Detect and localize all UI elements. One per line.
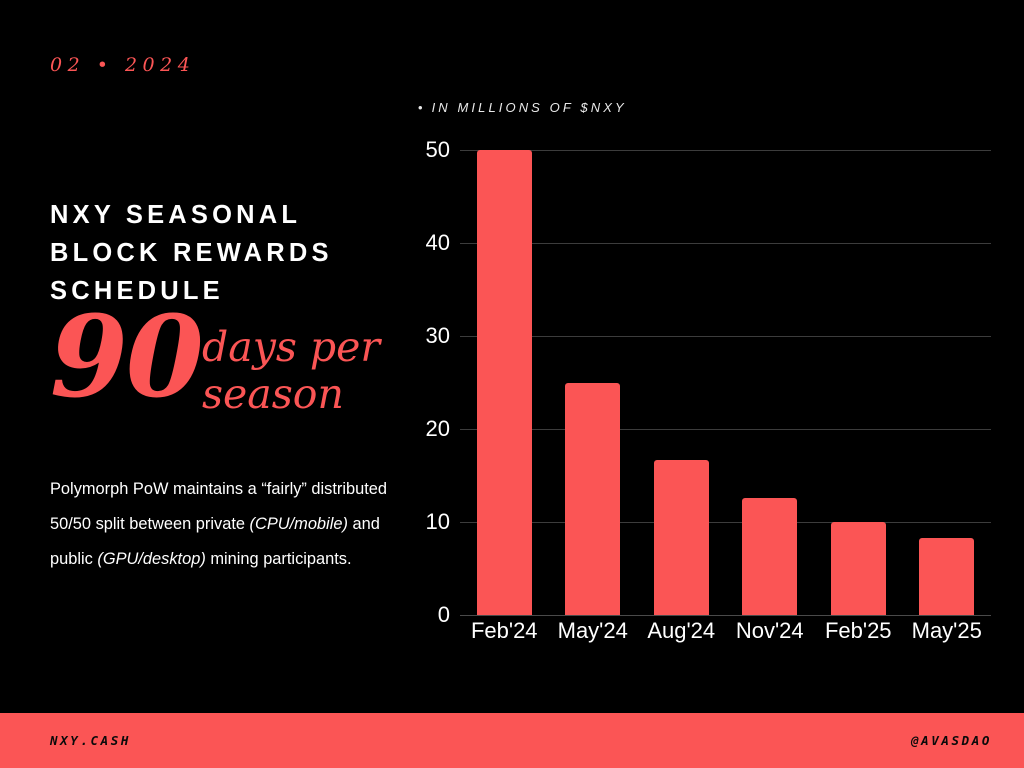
bar-aug24[interactable] bbox=[654, 460, 709, 615]
body-text-italic-2: (GPU/desktop) bbox=[97, 550, 205, 568]
x-axis-tick-label: Feb'24 bbox=[459, 618, 549, 644]
poster-canvas: 02 • 2024 NXY SEASONAL BLOCK REWARDS SCH… bbox=[0, 0, 1024, 768]
left-content-panel: 02 • 2024 NXY SEASONAL BLOCK REWARDS SCH… bbox=[50, 0, 400, 710]
y-axis-tick-label: 20 bbox=[410, 416, 450, 442]
y-axis-tick-label: 50 bbox=[410, 137, 450, 163]
y-axis-tick-label: 30 bbox=[410, 323, 450, 349]
chart-subtitle-text: IN MILLIONS OF $NXY bbox=[432, 100, 627, 115]
bar-nov24[interactable] bbox=[742, 498, 797, 615]
x-axis-tick-label: Aug'24 bbox=[636, 618, 726, 644]
issue-date-label: 02 • 2024 bbox=[50, 54, 195, 76]
key-stat-block: 90 days per season bbox=[50, 312, 400, 422]
x-axis-tick-label: May'25 bbox=[902, 618, 992, 644]
stat-unit-line-2: season bbox=[202, 371, 402, 418]
y-axis-tick-label: 0 bbox=[410, 602, 450, 628]
body-text-italic-1: (CPU/mobile) bbox=[250, 515, 348, 533]
x-axis-labels: Feb'24May'24Aug'24Nov'24Feb'25May'25 bbox=[460, 618, 1000, 652]
gridline bbox=[460, 615, 991, 616]
stat-unit: days per season bbox=[202, 324, 402, 418]
footer-handle-label[interactable]: @AVASDAO bbox=[911, 733, 992, 748]
bullet-icon: • bbox=[418, 100, 423, 115]
bar-series bbox=[460, 150, 991, 615]
stat-unit-line-1: days per bbox=[202, 324, 402, 371]
x-axis-tick-label: Nov'24 bbox=[725, 618, 815, 644]
footer-site-label[interactable]: NXY.CASH bbox=[50, 733, 131, 748]
body-paragraph: Polymorph PoW maintains a “fairly” distr… bbox=[50, 472, 402, 577]
chart-subtitle: •IN MILLIONS OF $NXY bbox=[418, 100, 627, 115]
y-axis-tick-label: 10 bbox=[410, 509, 450, 535]
bar-may25[interactable] bbox=[919, 538, 974, 615]
bar-feb25[interactable] bbox=[831, 522, 886, 615]
bar-chart: •IN MILLIONS OF $NXY 01020304050 Feb'24M… bbox=[400, 85, 1010, 655]
body-text-part-3: mining participants. bbox=[206, 550, 352, 568]
plot-region: 01020304050 Feb'24May'24Aug'24Nov'24Feb'… bbox=[410, 150, 991, 615]
bar-may24[interactable] bbox=[565, 383, 620, 616]
x-axis-tick-label: Feb'25 bbox=[813, 618, 903, 644]
stat-number: 90 bbox=[50, 302, 202, 414]
y-axis-tick-label: 40 bbox=[410, 230, 450, 256]
bar-feb24[interactable] bbox=[477, 150, 532, 615]
x-axis-tick-label: May'24 bbox=[548, 618, 638, 644]
footer-bar: NXY.CASH @AVASDAO bbox=[0, 713, 1024, 768]
